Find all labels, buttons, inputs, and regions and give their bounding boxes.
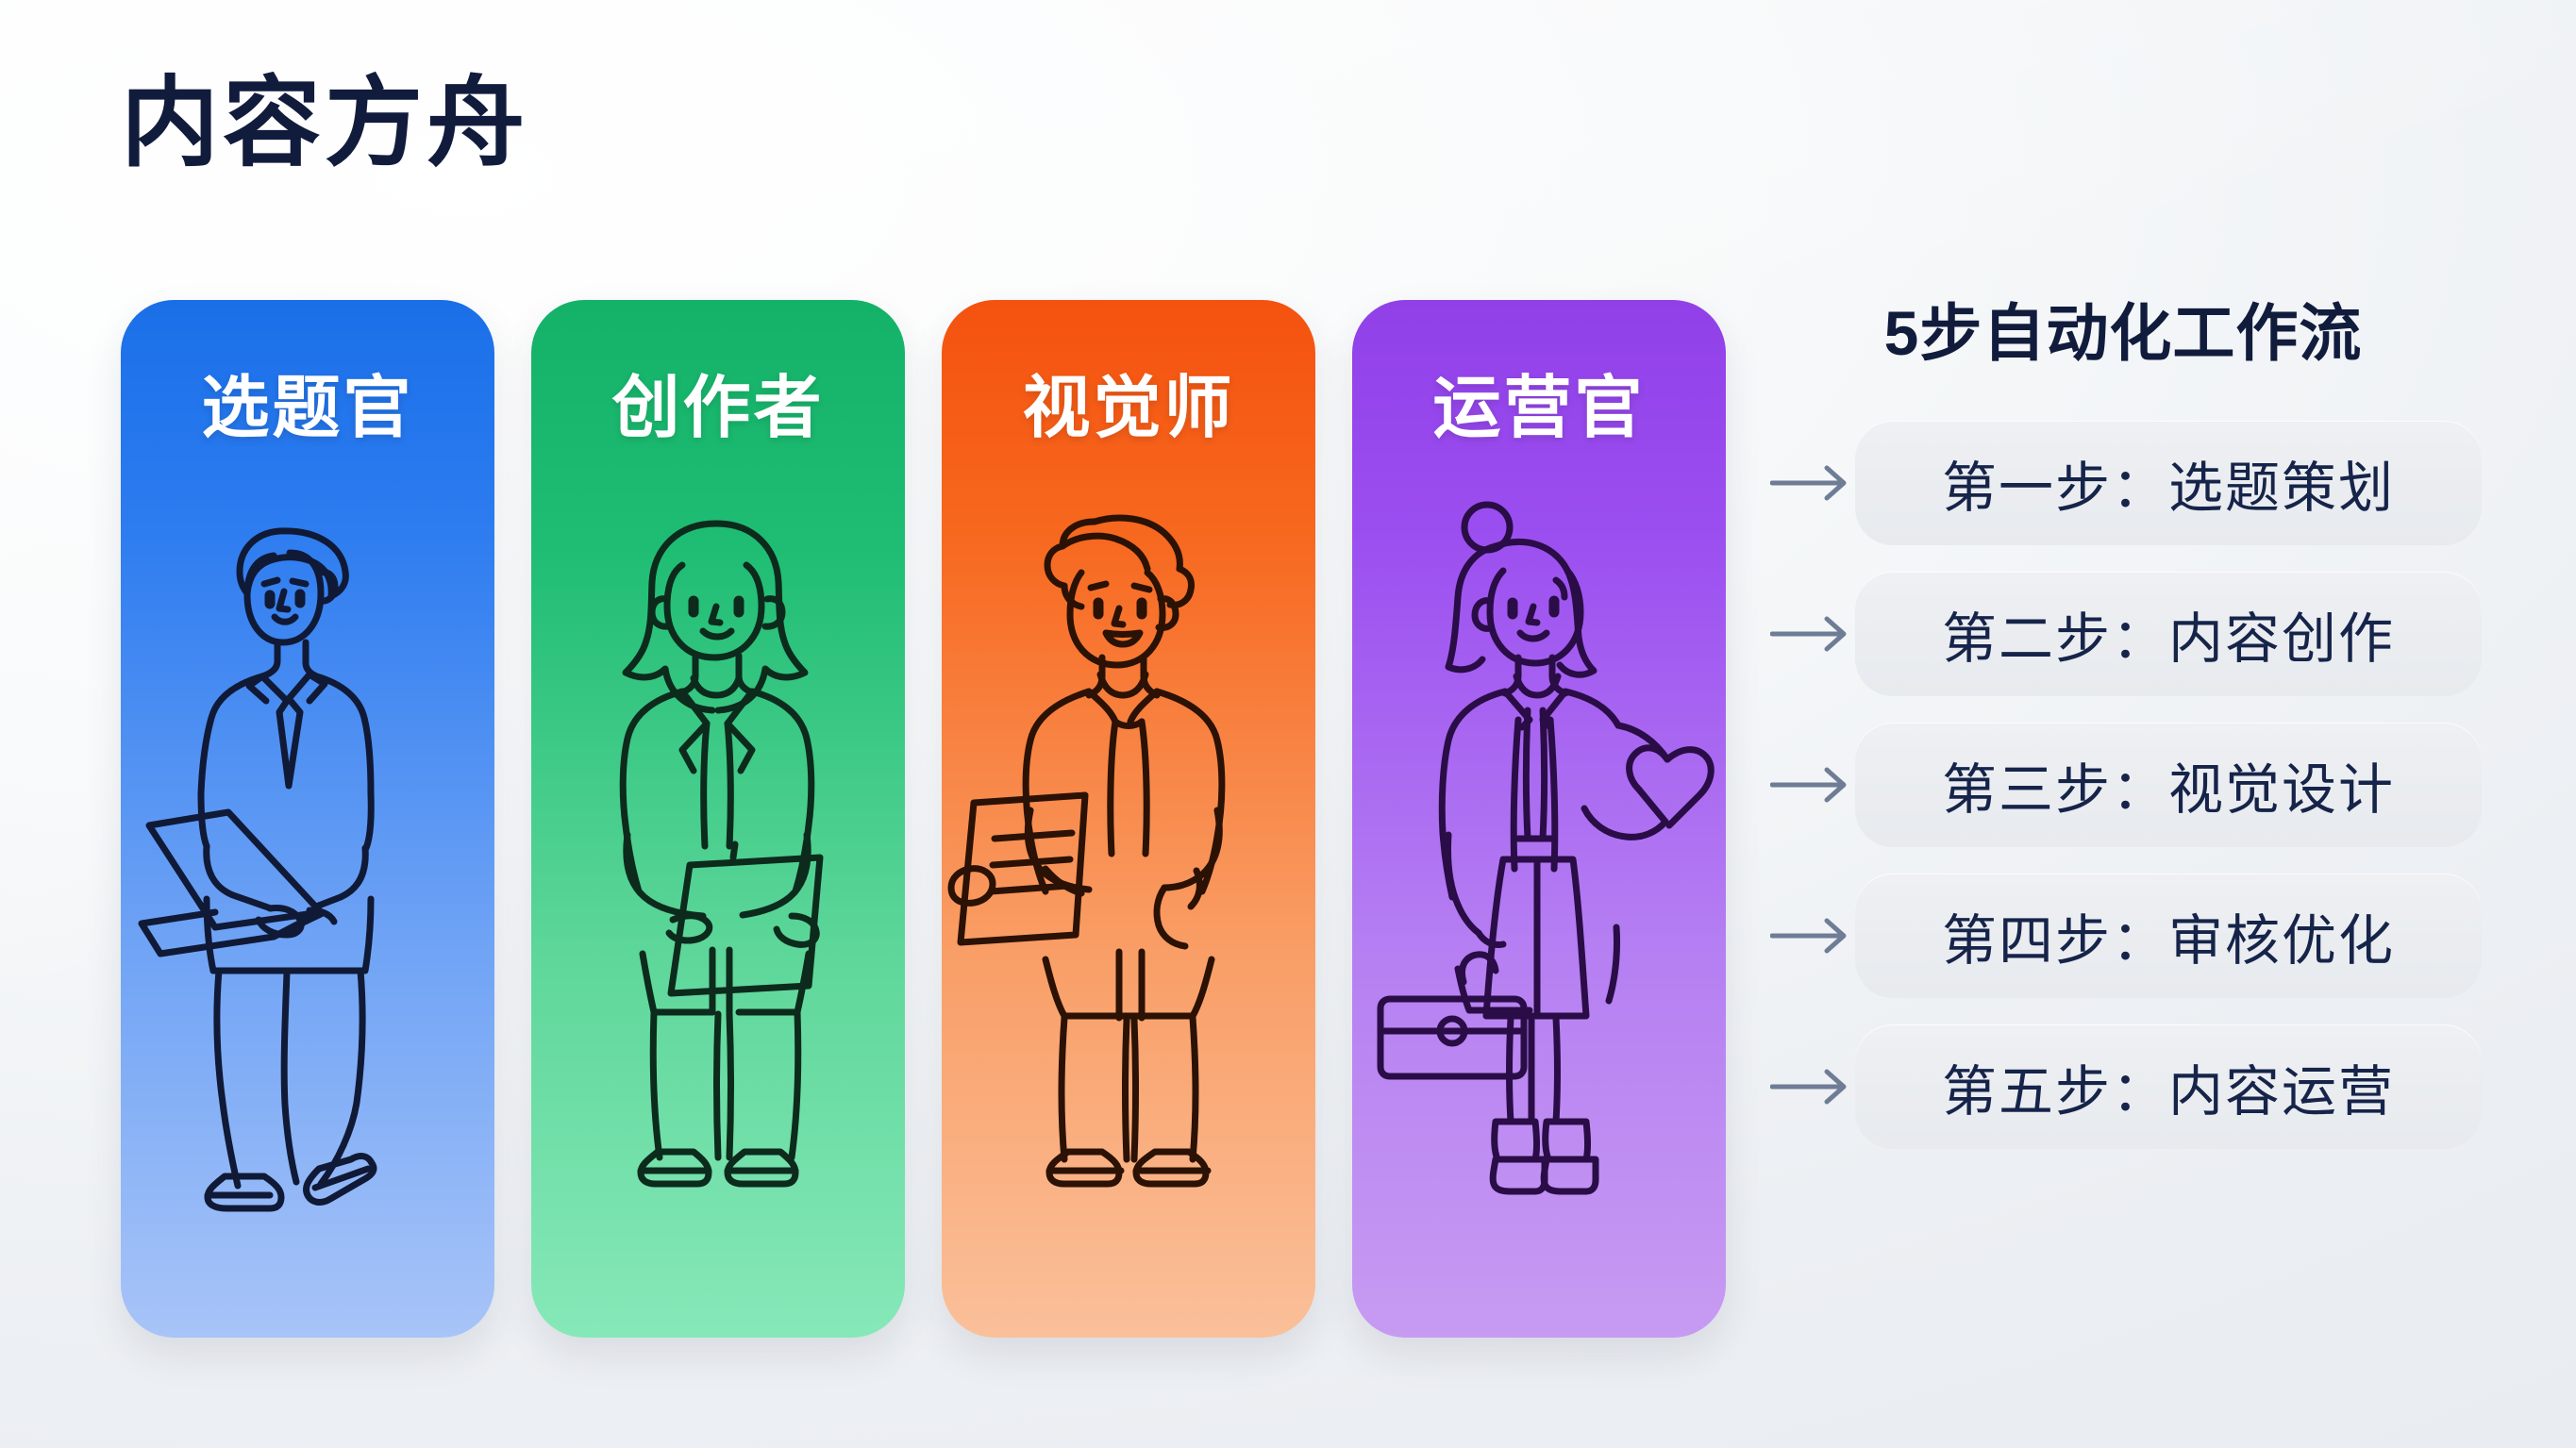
slide-root: 内容方舟 选题官 xyxy=(0,0,2576,1448)
workflow-step-label: 第一步：选题策划 xyxy=(1942,443,2395,523)
role-card-creator[interactable]: 创作者 xyxy=(531,300,905,1338)
arrow-right-icon xyxy=(1765,1068,1855,1106)
role-card-label: 选题官 xyxy=(121,352,494,451)
person-with-laptop-icon xyxy=(121,474,494,1220)
role-card-selection-officer[interactable]: 选题官 xyxy=(121,300,494,1338)
workflow-step-pill[interactable]: 第四步：审核优化 xyxy=(1855,874,2482,998)
arrow-right-icon xyxy=(1765,615,1855,653)
role-card-operations-officer[interactable]: 运营官 xyxy=(1352,300,1726,1338)
workflow-title: 5步自动化工作流 xyxy=(1765,283,2482,374)
workflow-step-4[interactable]: 第四步：审核优化 xyxy=(1765,874,2482,998)
page-title: 内容方舟 xyxy=(121,68,528,181)
workflow-step-pill[interactable]: 第一步：选题策划 xyxy=(1855,421,2482,545)
workflow-step-label: 第三步：视觉设计 xyxy=(1942,745,2395,824)
role-card-label: 运营官 xyxy=(1352,352,1726,451)
role-card-visual-designer[interactable]: 视觉师 xyxy=(942,300,1315,1338)
workflow-step-label: 第二步：内容创作 xyxy=(1942,594,2395,674)
arrow-right-icon xyxy=(1765,464,1855,502)
role-card-label: 创作者 xyxy=(531,352,905,451)
arrow-right-icon xyxy=(1765,766,1855,804)
workflow-step-pill[interactable]: 第三步：视觉设计 xyxy=(1855,723,2482,847)
person-with-tablet-icon xyxy=(531,474,905,1220)
workflow-step-2[interactable]: 第二步：内容创作 xyxy=(1765,572,2482,696)
workflow-step-5[interactable]: 第五步：内容运营 xyxy=(1765,1024,2482,1149)
workflow-step-pill[interactable]: 第二步：内容创作 xyxy=(1855,572,2482,696)
workflow-step-pill[interactable]: 第五步：内容运营 xyxy=(1855,1024,2482,1149)
person-with-document-icon xyxy=(942,474,1315,1220)
workflow-step-label: 第五步：内容运营 xyxy=(1942,1047,2395,1126)
workflow-panel: 5步自动化工作流 第一步：选题策划 第二步：内容创作 xyxy=(1765,283,2482,1175)
arrow-right-icon xyxy=(1765,917,1855,955)
workflow-step-label: 第四步：审核优化 xyxy=(1942,896,2395,975)
person-waving-with-bag-icon xyxy=(1352,474,1726,1220)
role-card-label: 视觉师 xyxy=(942,352,1315,451)
role-card-list: 选题官 xyxy=(121,300,1726,1338)
workflow-step-1[interactable]: 第一步：选题策划 xyxy=(1765,421,2482,545)
workflow-step-3[interactable]: 第三步：视觉设计 xyxy=(1765,723,2482,847)
